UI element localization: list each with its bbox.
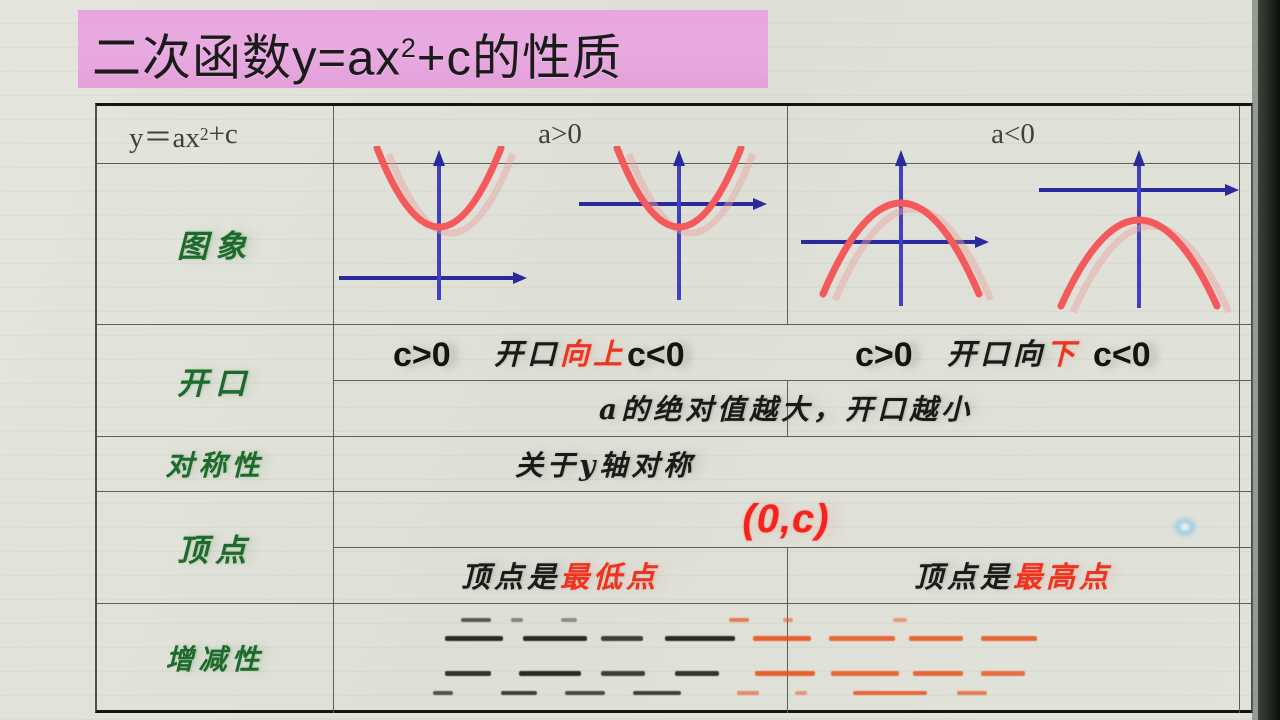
vertex-left-red: 最低点 <box>560 554 659 596</box>
opening-left-red: 向上 <box>560 331 626 373</box>
properties-table: y＝ax2+c a>0 a<0 图象 开口 对称性 顶点 增减性 c>0 c<0 <box>95 103 1253 713</box>
vertex-right-cell: 顶点是最高点 <box>787 547 1239 603</box>
vertex-left-black: 顶点是 <box>461 554 560 596</box>
vertex-right-red: 最高点 <box>1013 554 1112 596</box>
opening-merged-note: a的绝对值越大，开口越小 <box>333 380 1239 436</box>
monotonicity-content-area <box>333 603 1239 713</box>
opening-left-black: 开口 <box>494 331 560 373</box>
lens-flare-artifact <box>1172 516 1198 538</box>
row-label-monotonicity: 增减性 <box>97 603 333 713</box>
row-label-symmetry: 对称性 <box>97 436 333 491</box>
graph-up-c-positive <box>335 146 551 326</box>
graph-up-c-negative <box>575 146 791 326</box>
vertex-left-cell: 顶点是最低点 <box>333 547 787 603</box>
header-formula-exponent: 2 <box>200 124 209 145</box>
opening-right-red: 下 <box>1046 331 1079 373</box>
header-formula: y＝ax2+c <box>111 106 333 163</box>
page-title-prefix: 二次函数y=ax <box>92 31 401 85</box>
row-label-vertex: 顶点 <box>97 491 333 603</box>
row-label-graph: 图象 <box>97 163 333 324</box>
graph-down-c-negative <box>1035 146 1251 326</box>
row-label-opening: 开口 <box>97 324 333 436</box>
opening-left-cell: 开口向上 <box>333 324 787 380</box>
header-formula-suffix: +c <box>209 118 238 151</box>
symmetry-text: 关于y轴对称 <box>333 436 1239 491</box>
opening-right-cell: 开口向下 <box>787 324 1239 380</box>
opening-right-black: 开口向 <box>947 331 1046 373</box>
page-title-exponent: 2 <box>401 33 417 63</box>
vertex-coordinate: (0,c) <box>333 491 1239 547</box>
vertex-right-black: 顶点是 <box>914 554 1013 596</box>
right-edge-black-bar <box>1258 0 1280 720</box>
header-formula-prefix: y＝ax <box>129 114 200 156</box>
graph-down-c-positive <box>797 146 1013 326</box>
page-title: 二次函数y=ax2+c的性质 <box>92 16 622 90</box>
page-title-suffix: +c的性质 <box>417 31 622 85</box>
